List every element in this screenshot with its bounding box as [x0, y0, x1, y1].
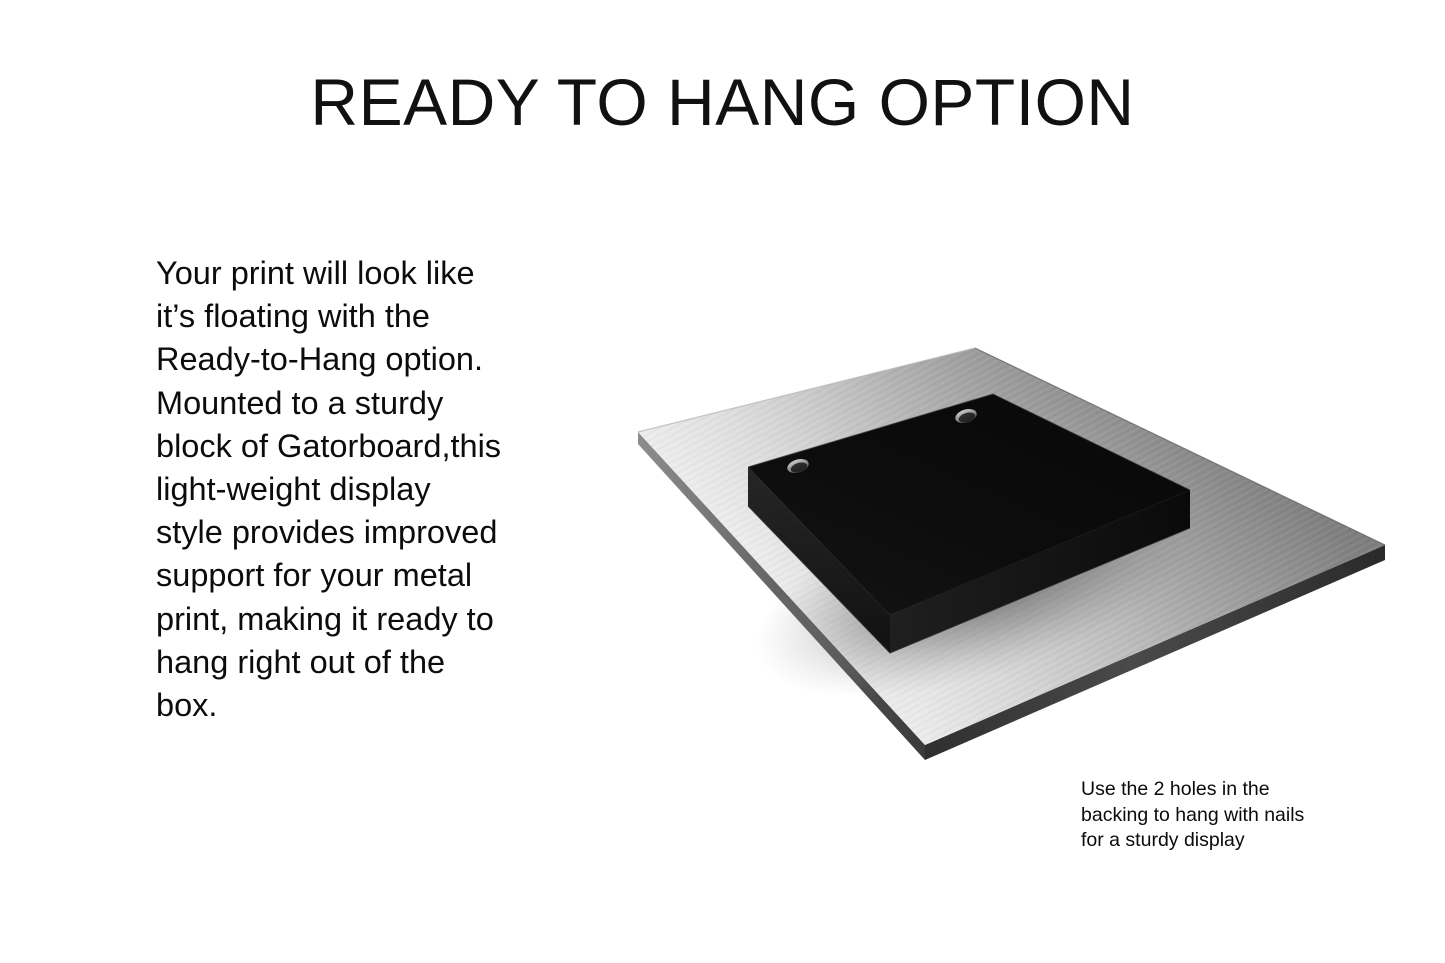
description-line: block of Gatorboard,this	[156, 425, 556, 468]
description-paragraph: Your print will look like it’s floating …	[156, 252, 556, 727]
description-line: Ready-to-Hang option.	[156, 338, 556, 381]
product-illustration	[600, 320, 1430, 780]
description-line: Your print will look like	[156, 252, 556, 295]
description-line: hang right out of the	[156, 641, 556, 684]
description-line: it’s floating with the	[156, 295, 556, 338]
slide-canvas: READY TO HANG OPTION Your print will loo…	[0, 0, 1445, 963]
caption-line: backing to hang with nails	[1081, 803, 1411, 829]
caption-line: Use the 2 holes in the	[1081, 777, 1411, 803]
description-line: support for your metal	[156, 554, 556, 597]
page-title: READY TO HANG OPTION	[0, 68, 1445, 137]
description-line: light-weight display	[156, 468, 556, 511]
description-line: print, making it ready to	[156, 598, 556, 641]
caption-line: for a sturdy display	[1081, 828, 1411, 854]
hanging-instructions-caption: Use the 2 holes in the backing to hang w…	[1081, 777, 1411, 854]
description-line: style provides improved	[156, 511, 556, 554]
description-line: Mounted to a sturdy	[156, 382, 556, 425]
description-line: box.	[156, 684, 556, 727]
